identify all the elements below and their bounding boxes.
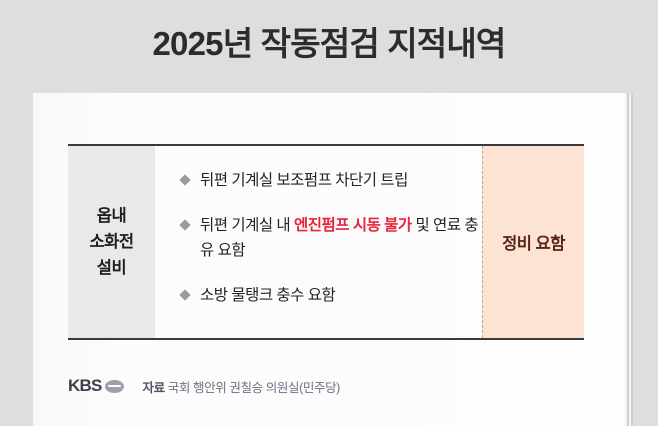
diamond-bullet-icon <box>179 289 190 300</box>
finding-highlight: 엔진펌프 시동 불가 <box>294 217 412 234</box>
list-item: 뒤편 기계실 내 엔진펌프 시동 불가 및 연료 충유 요함 <box>181 213 482 263</box>
list-item: 소방 물탱크 충수 요함 <box>181 283 482 308</box>
category-line-2: 소화전 <box>89 229 133 255</box>
category-line-3: 설비 <box>89 255 133 281</box>
kbs-wordmark: KBS <box>68 376 102 396</box>
finding-text: 소방 물탱크 충수 요함 <box>200 287 335 304</box>
kbs-ellipse-icon <box>105 380 124 393</box>
diamond-bullet-icon <box>179 174 190 185</box>
category-line-1: 옵내 <box>89 203 133 229</box>
diamond-bullet-icon <box>179 219 190 230</box>
inspection-findings-table: 옵내 소화전 설비 뒤편 기계실 보조펌프 차단기 트립 뒤편 기계실 내 엔진… <box>68 144 584 340</box>
source-credit: 자료 국회 행안위 권칠승 의원실(민주당) <box>143 377 340 396</box>
findings-list: 뒤편 기계실 보조펌프 차단기 트립 뒤편 기계실 내 엔진펌프 시동 불가 및… <box>181 168 482 308</box>
footer: KBS 자료 국회 행안위 권칠승 의원실(민주당) <box>68 376 340 396</box>
status-badge: 정비 요함 <box>502 230 565 254</box>
page-title: 2025년 작동점검 지적내역 <box>0 24 658 64</box>
table-cell-category: 옵내 소화전 설비 <box>68 146 155 338</box>
finding-text: 뒤편 기계실 보조펌프 차단기 트립 <box>200 172 408 189</box>
source-text: 국회 행안위 권칠승 의원실(민주당) <box>168 381 340 395</box>
table-cell-findings: 뒤편 기계실 보조펌프 차단기 트립 뒤편 기계실 내 엔진펌프 시동 불가 및… <box>155 146 482 338</box>
source-label: 자료 <box>143 381 165 395</box>
category-label-lines: 옵내 소화전 설비 <box>89 203 133 281</box>
finding-text-before: 뒤편 기계실 내 <box>200 217 294 234</box>
card-surface: 옵내 소화전 설비 뒤편 기계실 보조펌프 차단기 트립 뒤편 기계실 내 엔진… <box>33 93 625 426</box>
kbs-logo: KBS <box>68 376 124 396</box>
table-cell-status: 정비 요함 <box>482 146 584 338</box>
report-card: 옵내 소화전 설비 뒤편 기계실 보조펌프 차단기 트립 뒤편 기계실 내 엔진… <box>33 93 625 426</box>
list-item: 뒤편 기계실 보조펌프 차단기 트립 <box>181 168 482 193</box>
